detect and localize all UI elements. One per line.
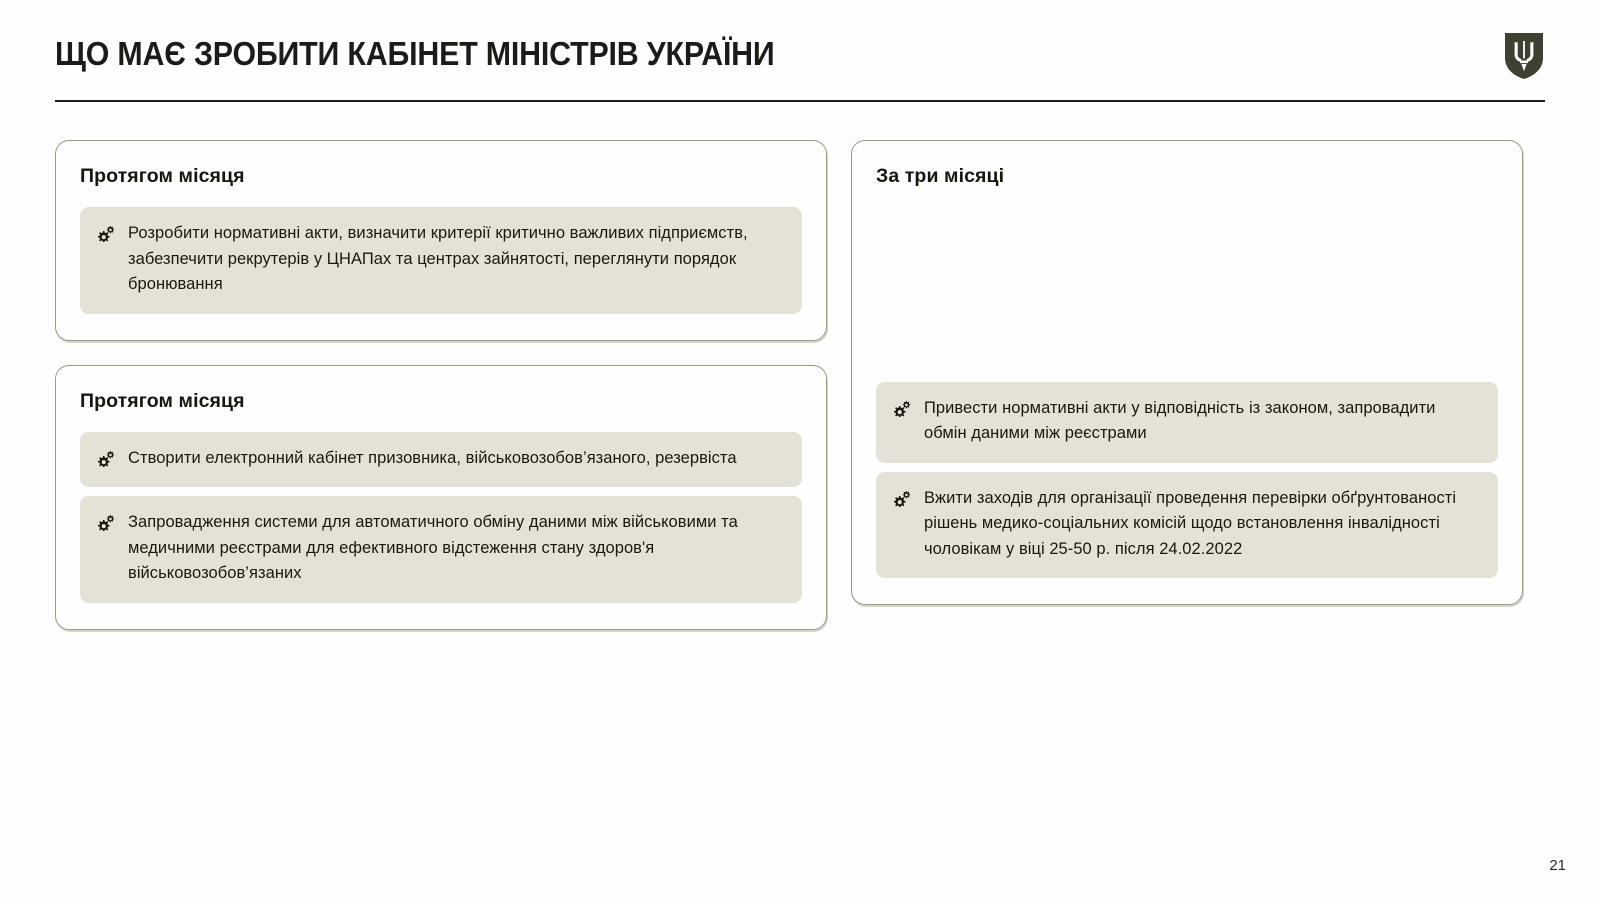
- cogs-icon: [894, 490, 911, 507]
- card-title: Протягом місяця: [80, 388, 802, 414]
- cogs-icon: [98, 225, 115, 242]
- slide-header: ЩО МАЄ ЗРОБИТИ КАБІНЕТ МІНІСТРІВ УКРАЇНИ: [55, 34, 1545, 100]
- content-columns: Протягом місяця: [55, 140, 1523, 630]
- card-items: Створити електронний кабінет призовника,…: [80, 432, 802, 603]
- slide: ЩО МАЄ ЗРОБИТИ КАБІНЕТ МІНІСТРІВ УКРАЇНИ…: [0, 0, 1600, 900]
- page-title: ЩО МАЄ ЗРОБИТИ КАБІНЕТ МІНІСТРІВ УКРАЇНИ: [55, 34, 775, 74]
- list-item-text: Створити електронний кабінет призовника,…: [128, 446, 737, 472]
- list-item-text: Вжити заходів для організації проведення…: [924, 486, 1480, 563]
- list-item[interactable]: Запровадження системи для автоматичного …: [80, 496, 802, 603]
- header-divider: [55, 100, 1545, 102]
- list-item-text: Привести нормативні акти у відповідність…: [924, 396, 1480, 447]
- list-item[interactable]: Вжити заходів для організації проведення…: [876, 472, 1498, 579]
- cogs-icon: [894, 400, 911, 417]
- left-column: Протягом місяця: [55, 140, 827, 630]
- card-items: Розробити нормативні акти, визначити кри…: [80, 207, 802, 314]
- card-items: Привести нормативні акти у відповідність…: [876, 382, 1498, 579]
- list-item[interactable]: Розробити нормативні акти, визначити кри…: [80, 207, 802, 314]
- page-number: 21: [1549, 857, 1566, 874]
- ukraine-trident-shield-logo: [1503, 31, 1545, 81]
- right-column: За три місяці: [851, 140, 1523, 605]
- cogs-icon: [98, 514, 115, 531]
- list-item[interactable]: Створити електронний кабінет призовника,…: [80, 432, 802, 488]
- cogs-icon: [98, 450, 115, 467]
- list-item-text: Запровадження системи для автоматичного …: [128, 510, 784, 587]
- list-item-text: Розробити нормативні акти, визначити кри…: [128, 221, 784, 298]
- card-spacer: [876, 207, 1498, 382]
- card-title: Протягом місяця: [80, 163, 802, 189]
- card-right-1: За три місяці: [851, 140, 1523, 605]
- card-left-2: Протягом місяця: [55, 365, 827, 630]
- card-left-1: Протягом місяця: [55, 140, 827, 341]
- list-item[interactable]: Привести нормативні акти у відповідність…: [876, 382, 1498, 463]
- card-title: За три місяці: [876, 163, 1498, 189]
